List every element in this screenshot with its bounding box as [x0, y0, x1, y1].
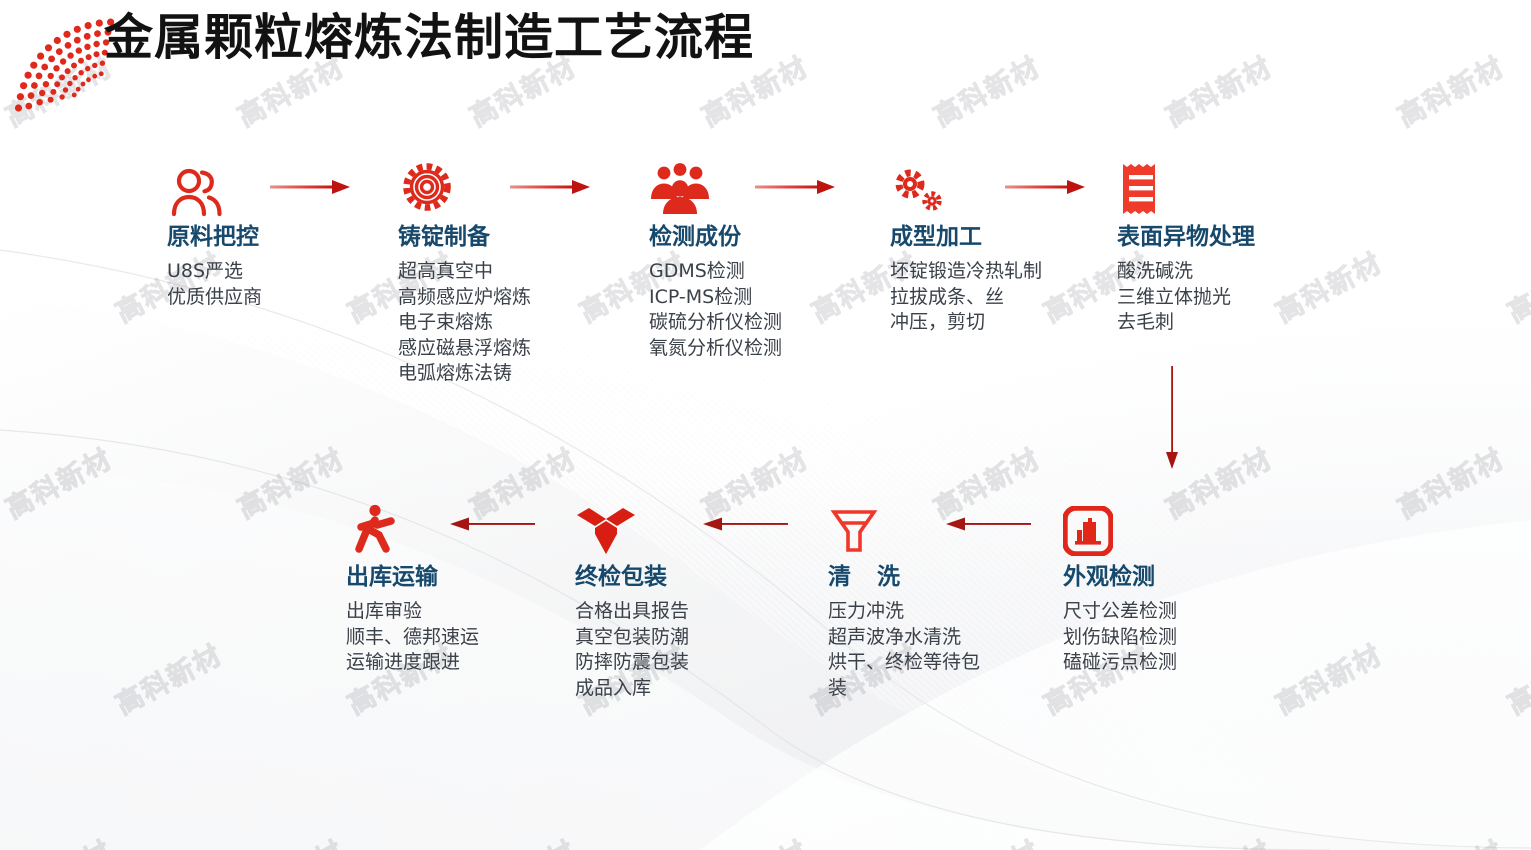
- step-detail-line: 合格出具报告: [575, 599, 689, 625]
- step-detail-line: 真空包装防潮: [575, 625, 689, 651]
- flow-step-outbound-transport[interactable]: 出库运输 出库审验顺丰、德邦速运运输进度跟进: [346, 498, 479, 676]
- flow-step-final-inspection-packaging[interactable]: 终检包装 合格出具报告真空包装防潮防摔防震包装成品入库: [575, 498, 689, 701]
- step-detail-line: 三维立体抛光: [1117, 285, 1255, 311]
- gears-icon: [890, 158, 1042, 216]
- flow-arrow-down: [1162, 366, 1184, 472]
- step-detail-line: 酸洗碱洗: [1117, 259, 1255, 285]
- step-detail-line: 碳硫分析仪检测: [649, 310, 782, 336]
- background-swoosh-shapes: [0, 0, 1531, 850]
- step-detail-line: 成品入库: [575, 676, 689, 702]
- step-detail-line: 优质供应商: [167, 285, 262, 311]
- step-detail-lines: 超高真空中高频感应炉熔炼电子束熔炼感应磁悬浮熔炼电弧熔炼法铸: [398, 259, 531, 387]
- step-detail-line: 高频感应炉熔炼: [398, 285, 531, 311]
- step-detail-line: 压力冲洗: [828, 599, 990, 625]
- step-title: 终检包装: [575, 562, 689, 592]
- page-title: 金属颗粒熔炼法制造工艺流程: [104, 8, 754, 68]
- walking-person-icon: [346, 498, 479, 556]
- step-detail-line: 运输进度跟进: [346, 650, 479, 676]
- step-title: 铸锭制备: [398, 222, 531, 252]
- step-detail-line: 防摔防震包装: [575, 650, 689, 676]
- step-detail-line: 坯锭锻造冷热轧制: [890, 259, 1042, 285]
- step-detail-lines: 合格出具报告真空包装防潮防摔防震包装成品入库: [575, 599, 689, 701]
- gear-icon: [398, 158, 531, 216]
- step-detail-lines: GDMS检测ICP-MS检测碳硫分析仪检测氧氮分析仪检测: [649, 259, 782, 361]
- step-title: 原料把控: [167, 222, 262, 252]
- inspection-box-icon: [1063, 498, 1177, 556]
- step-detail-lines: 坯锭锻造冷热轧制拉拔成条、丝冲压，剪切: [890, 259, 1042, 336]
- step-detail-line: 磕碰污点检测: [1063, 650, 1177, 676]
- step-detail-line: U8S严选: [167, 259, 262, 285]
- step-detail-line: 划伤缺陷检测: [1063, 625, 1177, 651]
- people-group-icon: [649, 158, 782, 216]
- step-detail-line: 电子束熔炼: [398, 310, 531, 336]
- step-detail-line: 尺寸公差检测: [1063, 599, 1177, 625]
- flow-step-surface-foreign-matter-treatment[interactable]: 表面异物处理 酸洗碱洗三维立体抛光去毛刺: [1117, 158, 1255, 336]
- step-detail-line: 顺丰、德邦速运: [346, 625, 479, 651]
- step-detail-line: 烘干、终检等待包 装: [828, 650, 990, 701]
- step-detail-line: 超声波净水清洗: [828, 625, 990, 651]
- step-detail-line: ICP-MS检测: [649, 285, 782, 311]
- two-people-icon: [167, 158, 262, 216]
- step-title: 成型加工: [890, 222, 1042, 252]
- flow-step-raw-material-control[interactable]: 原料把控 U8S严选优质供应商: [167, 158, 262, 310]
- step-title: 检测成份: [649, 222, 782, 252]
- flow-step-composition-testing[interactable]: 检测成份 GDMS检测ICP-MS检测碳硫分析仪检测氧氮分析仪检测: [649, 158, 782, 361]
- step-detail-line: 氧氮分析仪检测: [649, 336, 782, 362]
- step-title: 表面异物处理: [1117, 222, 1255, 252]
- receipt-icon: [1117, 158, 1255, 216]
- step-title: 清洗: [828, 562, 1000, 592]
- step-detail-line: 电弧熔炼法铸: [398, 361, 531, 387]
- flow-step-ingot-preparation[interactable]: 铸锭制备 超高真空中高频感应炉熔炼电子束熔炼感应磁悬浮熔炼电弧熔炼法铸: [398, 158, 531, 387]
- step-detail-lines: 出库审验顺丰、德邦速运运输进度跟进: [346, 599, 479, 676]
- step-detail-lines: 酸洗碱洗三维立体抛光去毛刺: [1117, 259, 1255, 336]
- step-detail-line: 感应磁悬浮熔炼: [398, 336, 531, 362]
- step-detail-line: 冲压，剪切: [890, 310, 1042, 336]
- flow-step-cleaning[interactable]: 清洗 压力冲洗超声波净水清洗烘干、终检等待包 装: [828, 498, 1000, 701]
- open-box-icon: [575, 498, 689, 556]
- step-detail-line: 拉拔成条、丝: [890, 285, 1042, 311]
- flow-arrow-right-1: [270, 178, 352, 196]
- step-detail-line: 去毛刺: [1117, 310, 1255, 336]
- flow-step-appearance-inspection[interactable]: 外观检测 尺寸公差检测划伤缺陷检测磕碰污点检测: [1063, 498, 1177, 676]
- flow-arrow-left-2: [700, 515, 790, 533]
- step-detail-line: 出库审验: [346, 599, 479, 625]
- step-title: 外观检测: [1063, 562, 1177, 592]
- step-title: 出库运输: [346, 562, 479, 592]
- step-detail-lines: 压力冲洗超声波净水清洗烘干、终检等待包 装: [828, 599, 990, 701]
- flow-step-forming-processing[interactable]: 成型加工 坯锭锻造冷热轧制拉拔成条、丝冲压，剪切: [890, 158, 1042, 336]
- step-detail-lines: 尺寸公差检测划伤缺陷检测磕碰污点检测: [1063, 599, 1177, 676]
- step-detail-lines: U8S严选优质供应商: [167, 259, 262, 310]
- funnel-icon: [828, 498, 1000, 556]
- step-detail-line: GDMS检测: [649, 259, 782, 285]
- step-detail-line: 超高真空中: [398, 259, 531, 285]
